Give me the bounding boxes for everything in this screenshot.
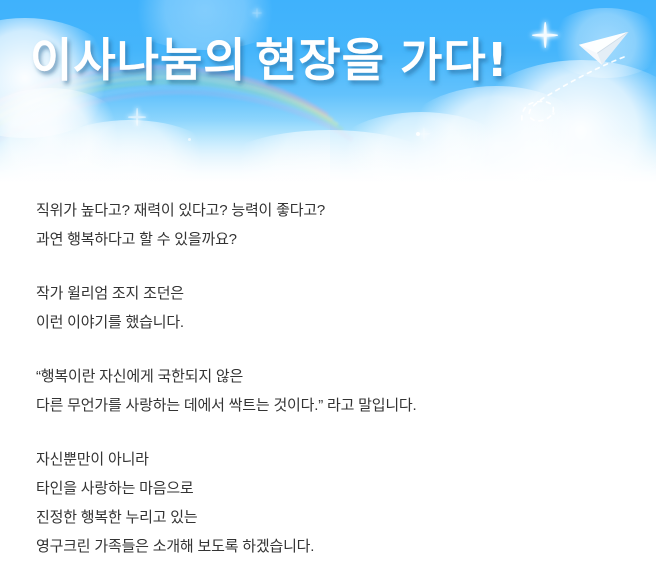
cloud-icon [326,112,516,182]
paragraph-line: 작가 윌리엄 조지 조던은 [36,279,656,308]
paragraph-line: “행복이란 자신에게 국한되지 않은 [36,362,656,391]
closing-paragraph: 자신뿐만이 아니라 타인을 사랑하는 마음으로 진정한 행복한 누리고 있는 영… [36,445,656,561]
sparkle-icon [252,8,262,18]
cloud-icon [40,120,220,182]
banner-title-art: 이사나눔의 현장을 가다! [30,26,550,100]
sparkle-dot-icon [416,132,420,136]
banner-title: 이사나눔의 현장을 가다! [30,26,550,100]
cloud-icon [546,8,656,78]
sparkle-dot-icon [552,112,555,115]
sparkle-icon [128,108,146,126]
paragraph-line: 다른 무언가를 사랑하는 데에서 싹트는 것이다.” 라고 말입니다. [36,391,656,420]
dashed-trail-icon [520,55,630,135]
paragraph-line: 직위가 높다고? 재력이 있다고? 능력이 좋다고? [36,196,656,225]
author-intro-paragraph: 작가 윌리엄 조지 조던은 이런 이야기를 했습니다. [36,279,656,337]
sparkle-icon [418,128,430,140]
banner-title-part-1: 이사나눔의 [30,33,247,87]
rainbow-fade-overlay [0,120,330,182]
cloud-icon [466,60,656,182]
sparkle-icon [532,22,558,48]
cloud-icon [0,88,130,182]
hero-banner: 이사나눔의 현장을 가다! [0,0,656,182]
paper-plane-icon [578,32,634,70]
banner-title-part-3: 가다! [400,33,509,87]
sky-gradient-wash [0,0,656,182]
cloud-icon [0,18,120,138]
sparkle-dot-icon [188,138,191,141]
quote-paragraph: “행복이란 자신에게 국한되지 않은 다른 무언가를 사랑하는 데에서 싹트는 … [36,362,656,420]
article-body: 직위가 높다고? 재력이 있다고? 능력이 좋다고? 과연 행복하다고 할 수 … [0,182,656,561]
banner-title-part-2: 현장을 [255,33,385,87]
paragraph-line: 이런 이야기를 했습니다. [36,308,656,337]
paragraph-line: 타인을 사랑하는 마음으로 [36,474,656,503]
paragraph-line: 진정한 행복한 누리고 있는 [36,503,656,532]
paragraph-line: 영구크린 가족들은 소개해 보도록 하겠습니다. [36,532,656,561]
question-paragraph: 직위가 높다고? 재력이 있다고? 능력이 좋다고? 과연 행복하다고 할 수 … [36,196,656,254]
paragraph-line: 과연 행복하다고 할 수 있을까요? [36,225,656,254]
paragraph-line: 자신뿐만이 아니라 [36,445,656,474]
page-root: 이사나눔의 현장을 가다! 직위가 높다고? 재력이 있다고? 능력이 좋다고?… [0,0,656,588]
cloud-icon [210,130,450,182]
cloud-icon [396,86,596,182]
cloud-icon [120,0,290,50]
